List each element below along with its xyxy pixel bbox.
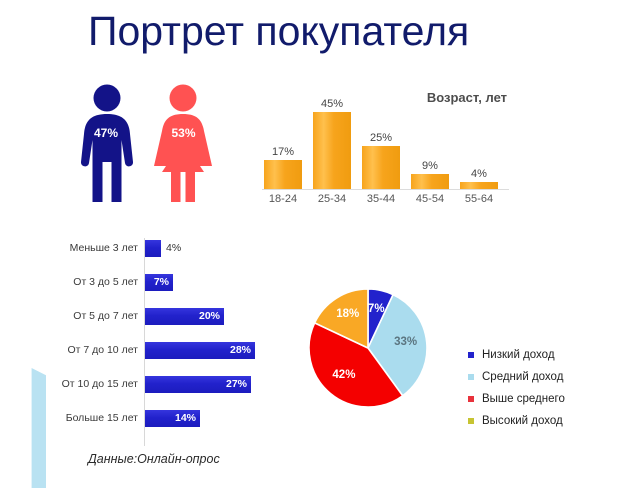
- age-bar-chart: Возраст, лет 17%18-2445%25-3425%35-449%4…: [258, 80, 513, 212]
- legend-swatch-icon: [468, 396, 474, 402]
- child-age-category-label: Меньше 3 лет: [52, 238, 138, 259]
- male-figure-icon: [76, 84, 138, 204]
- age-bar-value-label: 9%: [403, 160, 457, 172]
- age-bar-value-label: 45%: [305, 98, 359, 110]
- page-title: Портрет покупателя: [88, 8, 469, 55]
- child-age-bar-row: Меньше 3 лет4%: [52, 238, 262, 259]
- age-axis-tick-label: 35-44: [354, 193, 408, 205]
- legend-item: Средний доход: [468, 366, 613, 388]
- female-figure: 53%: [152, 84, 214, 204]
- legend-item-label: Высокий доход: [482, 415, 563, 427]
- age-bar: [411, 174, 449, 189]
- age-bar-value-label: 17%: [256, 146, 310, 158]
- child-age-category-label: От 10 до 15 лет: [52, 374, 138, 395]
- legend-item-label: Средний доход: [482, 371, 563, 383]
- age-axis-tick-label: 55-64: [452, 193, 506, 205]
- age-bar-value-label: 4%: [452, 168, 506, 180]
- child-age-value-label: 4%: [166, 240, 181, 257]
- decorative-wedge-shape: [14, 368, 46, 488]
- child-age-value-label: 7%: [143, 274, 169, 291]
- age-axis-tick-label: 45-54: [403, 193, 457, 205]
- male-figure: 47%: [76, 84, 138, 204]
- age-bar-group: 25%: [362, 103, 400, 189]
- legend-item: Выше среднего: [468, 388, 613, 410]
- age-axis-tick-label: 25-34: [305, 193, 359, 205]
- age-bar: [264, 160, 302, 189]
- legend-item-label: Низкий доход: [482, 349, 555, 361]
- income-legend: Низкий доходСредний доходВыше среднегоВы…: [468, 344, 613, 432]
- child-age-category-label: Больше 15 лет: [52, 408, 138, 429]
- child-age-bar: [145, 240, 161, 257]
- child-age-bar-row: От 7 до 10 лет28%: [52, 340, 262, 361]
- age-axis-tick-label: 18-24: [256, 193, 310, 205]
- age-bar-group: 4%: [460, 103, 498, 189]
- child-age-bar-row: Больше 15 лет14%: [52, 408, 262, 429]
- age-chart-baseline: [262, 189, 509, 190]
- child-age-bar-row: От 5 до 7 лет20%: [52, 306, 262, 327]
- child-age-bar-chart: Меньше 3 лет4%От 3 до 5 лет7%От 5 до 7 л…: [52, 238, 262, 446]
- child-age-category-label: От 5 до 7 лет: [52, 306, 138, 327]
- child-age-value-label: 28%: [225, 342, 251, 359]
- age-bar: [313, 112, 351, 189]
- child-age-category-label: От 7 до 10 лет: [52, 340, 138, 361]
- infographic-slide: Портрет покупателя 47% 53% Возраст, лет …: [0, 0, 620, 488]
- child-age-value-label: 14%: [170, 410, 196, 427]
- age-bar-group: 17%: [264, 103, 302, 189]
- legend-swatch-icon: [468, 352, 474, 358]
- child-age-value-label: 20%: [194, 308, 220, 325]
- age-bar: [460, 182, 498, 189]
- child-age-category-label: От 3 до 5 лет: [52, 272, 138, 293]
- source-note: Данные:Онлайн-опрос: [88, 452, 220, 466]
- legend-item: Высокий доход: [468, 410, 613, 432]
- income-pie-svg: [308, 288, 428, 408]
- age-bar-value-label: 25%: [354, 132, 408, 144]
- gender-split-chart: 47% 53%: [70, 84, 230, 206]
- child-age-bar-row: От 10 до 15 лет27%: [52, 374, 262, 395]
- child-age-value-label: 27%: [221, 376, 247, 393]
- female-figure-icon: [152, 84, 214, 204]
- child-age-bar-row: От 3 до 5 лет7%: [52, 272, 262, 293]
- legend-swatch-icon: [468, 374, 474, 380]
- income-pie-chart: 7%33%42%18%: [308, 288, 428, 408]
- age-bar: [362, 146, 400, 189]
- age-bar-group: 9%: [411, 103, 449, 189]
- legend-swatch-icon: [468, 418, 474, 424]
- age-bar-group: 45%: [313, 103, 351, 189]
- legend-item: Низкий доход: [468, 344, 613, 366]
- legend-item-label: Выше среднего: [482, 393, 565, 405]
